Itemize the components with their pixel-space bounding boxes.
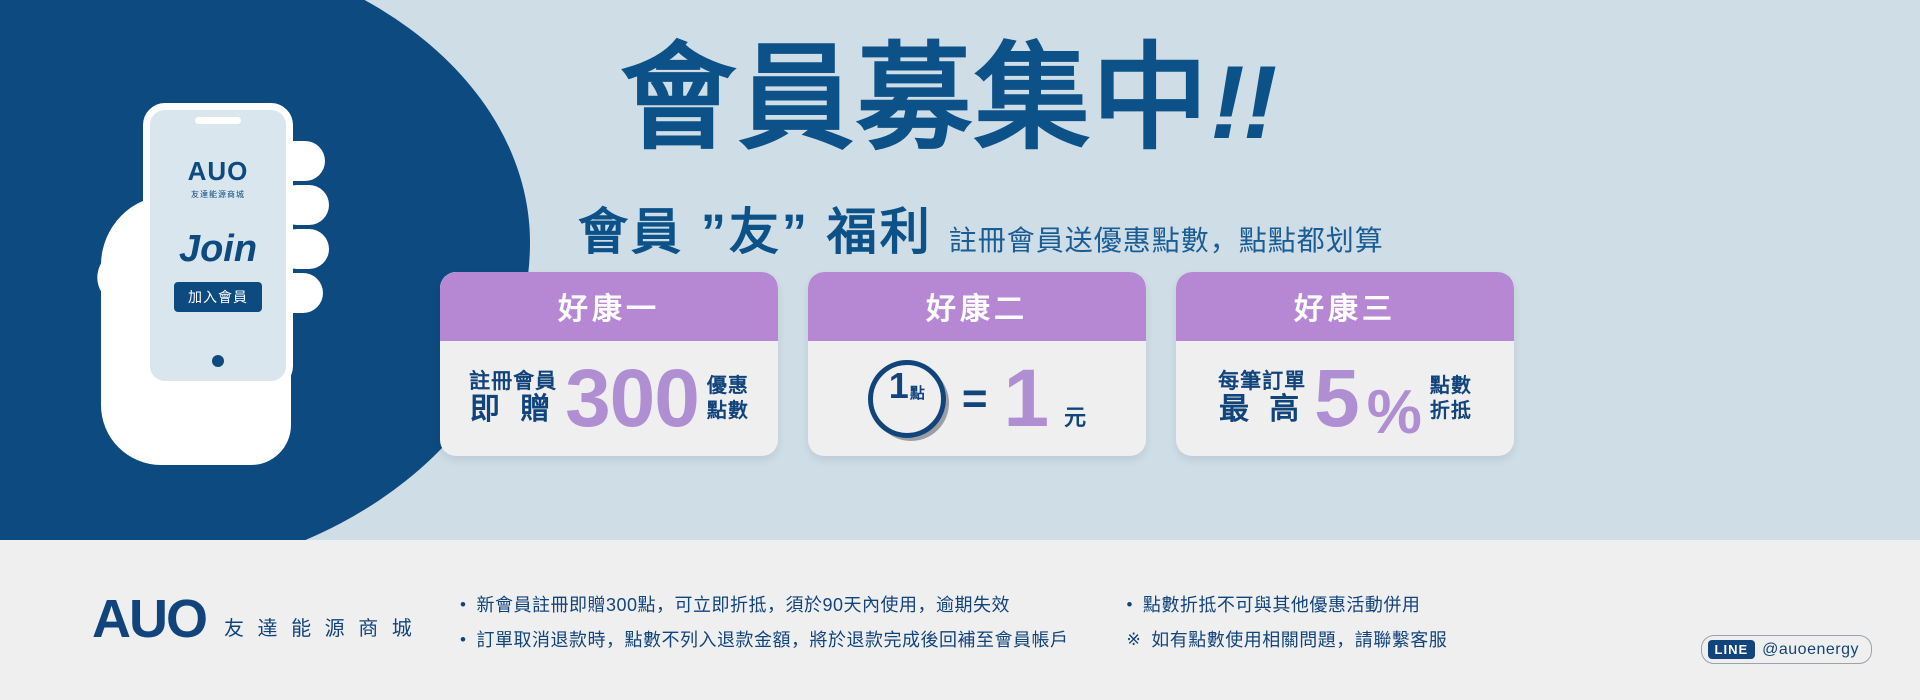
line-icon: LINE — [1708, 640, 1756, 659]
benefit-3-unit-line1: 點數 — [1430, 374, 1472, 399]
bullet-icon: • — [1126, 594, 1132, 615]
benefit-card-1-body: 註冊會員 即 贈 300 優惠 點數 — [440, 341, 778, 456]
phone-hand-illustration: AUO 友達能源商城 Join 加入會員 — [95, 85, 425, 475]
subtitle-row: 會員 ”友” 福利 註冊會員送優惠點數，點點都划算 — [578, 192, 1384, 264]
benefit-card-1-header: 好康一 — [440, 272, 778, 341]
benefit-2-unit: 元 — [1064, 400, 1086, 432]
benefit-card-2: 好康二 1 點 = 1 元 — [808, 272, 1146, 456]
benefit-3-unit: 點數 折抵 — [1430, 374, 1472, 424]
note-text: 如有點數使用相關問題，請聯繫客服 — [1151, 629, 1447, 652]
note-text: 新會員註冊即贈300點，可立即折抵，須於90天內使用，逾期失效 — [476, 594, 1010, 617]
benefit-3-percent: % — [1367, 377, 1422, 448]
phone-logo-text: AUO — [188, 156, 249, 186]
benefit-card-2-body: 1 點 = 1 元 — [808, 341, 1146, 456]
benefit-card-3-body: 每筆訂單 最 高 5 % 點數 折抵 — [1176, 341, 1514, 456]
line-account-badge[interactable]: LINE @auoenergy — [1701, 635, 1872, 664]
benefit-3-lead-line1: 每筆訂單 — [1218, 370, 1306, 394]
note-item: • 訂單取消退款時，點數不列入退款金額，將於退款完成後回補至會員帳戶 — [460, 629, 1068, 652]
footer-bar: AUO 友 達 能 源 商 城 • 新會員註冊即贈300點，可立即折抵，須於90… — [0, 540, 1920, 700]
benefit-1-lead-line2: 即 贈 — [470, 393, 556, 427]
phone-join-label: Join — [150, 228, 286, 271]
asterisk-icon: ※ — [1126, 629, 1141, 650]
terms-notes: • 新會員註冊即贈300點，可立即折抵，須於90天內使用，逾期失效 • 訂單取消… — [460, 594, 1447, 653]
note-item: • 新會員註冊即贈300點，可立即折抵，須於90天內使用，逾期失效 — [460, 594, 1068, 617]
benefit-1-lead: 註冊會員 即 贈 — [469, 370, 557, 427]
phone-home-indicator — [212, 355, 224, 367]
headline-exclamation: !! — [1210, 45, 1275, 161]
phone-notch — [195, 117, 241, 124]
benefit-3-number: 5 — [1314, 360, 1359, 438]
benefit-3-unit-line2: 折抵 — [1430, 399, 1472, 424]
benefit-card-2-header: 好康二 — [808, 272, 1146, 341]
benefit-card-1: 好康一 註冊會員 即 贈 300 優惠 點數 — [440, 272, 778, 456]
note-item: ※ 如有點數使用相關問題，請聯繫客服 — [1126, 629, 1447, 652]
terms-column-right: • 點數折抵不可與其他優惠活動併用 ※ 如有點數使用相關問題，請聯繫客服 — [1126, 594, 1447, 653]
benefit-1-lead-line1: 註冊會員 — [469, 370, 557, 394]
bullet-icon: • — [460, 629, 466, 650]
benefit-1-unit: 優惠 點數 — [707, 374, 749, 424]
join-member-button[interactable]: 加入會員 — [174, 282, 262, 312]
benefit-2-equation: 1 點 = 1 元 — [868, 360, 1086, 438]
benefit-card-list: 好康一 註冊會員 即 贈 300 優惠 點數 好康二 1 點 — [440, 272, 1514, 456]
auo-logo-mark: AUO — [92, 592, 206, 646]
equals-sign: = — [962, 374, 988, 424]
phone-auo-logo: AUO 友達能源商城 — [150, 156, 286, 200]
note-item: • 點數折抵不可與其他優惠活動併用 — [1126, 594, 1447, 617]
benefit-1-unit-line1: 優惠 — [707, 374, 749, 399]
benefit-card-3: 好康三 每筆訂單 最 高 5 % 點數 折抵 — [1176, 272, 1514, 456]
terms-column-left: • 新會員註冊即贈300點，可立即折抵，須於90天內使用，逾期失效 • 訂單取消… — [460, 594, 1068, 653]
coin-number: 1 — [889, 365, 909, 407]
benefit-2-number: 1 — [1004, 360, 1049, 438]
auo-logo-name: 友 達 能 源 商 城 — [224, 612, 416, 646]
promo-banner: AUO 友達能源商城 Join 加入會員 會員募集中!! 會員 ”友” 福利 註… — [0, 0, 1920, 700]
auo-logo: AUO 友 達 能 源 商 城 — [92, 592, 416, 646]
benefit-3-lead-line2: 最 高 — [1219, 393, 1305, 427]
bullet-icon: • — [460, 594, 466, 615]
point-coin-icon: 1 點 — [868, 360, 946, 438]
phone-logo-subtext: 友達能源商城 — [150, 189, 286, 200]
subtitle: 會員 ”友” 福利 — [578, 192, 933, 264]
benefit-card-3-header: 好康三 — [1176, 272, 1514, 341]
note-text: 訂單取消退款時，點數不列入退款金額，將於退款完成後回補至會員帳戶 — [476, 629, 1068, 652]
benefit-1-unit-line2: 點數 — [707, 399, 749, 424]
benefit-3-lead: 每筆訂單 最 高 — [1218, 370, 1306, 427]
line-account-id: @auoenergy — [1762, 641, 1859, 659]
benefit-1-number: 300 — [565, 360, 699, 438]
tagline: 註冊會員送優惠點數，點點都划算 — [949, 219, 1384, 264]
coin-unit: 點 — [910, 382, 925, 403]
headline-text: 會員募集中 — [620, 33, 1210, 163]
note-text: 點數折抵不可與其他優惠活動併用 — [1143, 594, 1421, 617]
phone-mockup: AUO 友達能源商城 Join 加入會員 — [143, 103, 293, 388]
page-title: 會員募集中!! — [620, 36, 1275, 161]
